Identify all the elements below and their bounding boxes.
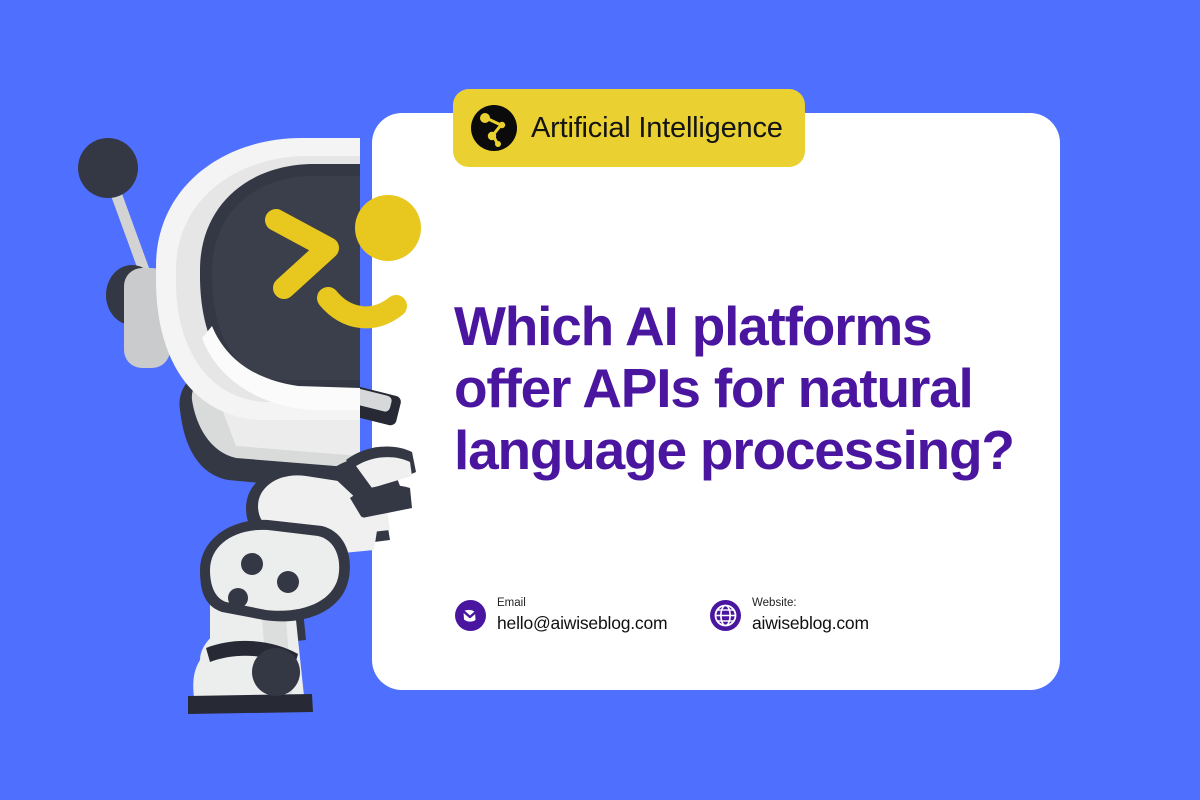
contact-footer: Email hello@aiwiseblog.com Website: aiwi… bbox=[455, 598, 869, 632]
website-value: aiwiseblog.com bbox=[752, 615, 869, 633]
contact-website[interactable]: Website: aiwiseblog.com bbox=[710, 598, 869, 632]
robot-round-eye bbox=[355, 195, 421, 261]
email-value: hello@aiwiseblog.com bbox=[497, 615, 667, 633]
robot-hip bbox=[200, 520, 350, 621]
robot-smile bbox=[328, 298, 396, 317]
email-label: Email bbox=[497, 598, 667, 610]
poster-canvas: Artificial Intelligence Which AI platfor… bbox=[0, 0, 1200, 800]
robot-knee-joint bbox=[252, 648, 300, 696]
antenna-ball bbox=[78, 138, 138, 198]
robot-antenna bbox=[78, 138, 155, 288]
robot-head bbox=[156, 138, 421, 420]
robot-mascot-illustration bbox=[60, 120, 460, 740]
contact-email[interactable]: Email hello@aiwiseblog.com bbox=[455, 598, 710, 632]
page-title: Which AI platforms offer APIs for natura… bbox=[454, 295, 1014, 481]
category-badge[interactable]: Artificial Intelligence bbox=[453, 89, 805, 167]
globe-icon bbox=[710, 600, 741, 631]
website-label: Website: bbox=[752, 598, 869, 610]
ai-network-node-icon bbox=[471, 105, 517, 151]
category-badge-label: Artificial Intelligence bbox=[531, 112, 783, 145]
robot-boot-sole bbox=[188, 694, 313, 714]
